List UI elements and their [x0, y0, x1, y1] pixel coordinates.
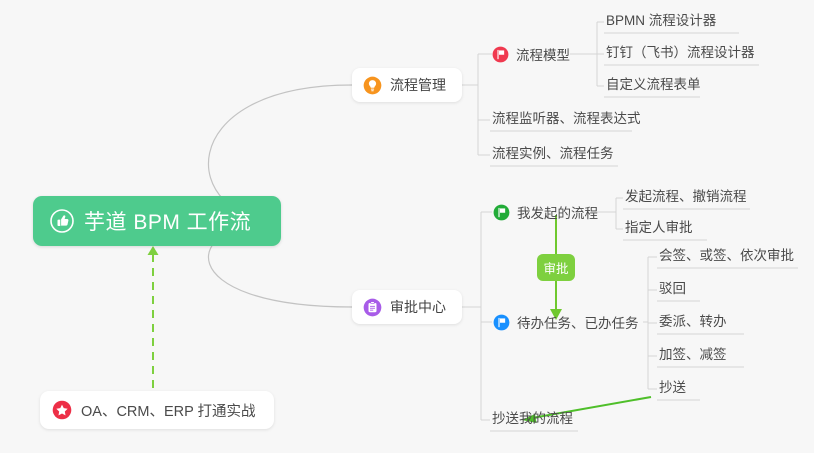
leaf-assignee-approval[interactable]: 指定人审批	[625, 217, 693, 239]
leaf-add-remove-sign[interactable]: 加签、减签	[659, 344, 727, 366]
leaf-cc-my-process[interactable]: 抄送我的流程	[492, 408, 573, 430]
leaf-reject[interactable]: 驳回	[659, 278, 686, 300]
flag-red-icon	[492, 46, 509, 63]
leaf-bpmn-designer[interactable]: BPMN 流程设计器	[606, 10, 716, 32]
card-label-integration: OA、CRM、ERP 打通实战	[81, 400, 256, 421]
thumbs-up-icon	[50, 209, 74, 233]
leaf-custom-form[interactable]: 自定义流程表单	[606, 74, 701, 96]
card-node-integration[interactable]: OA、CRM、ERP 打通实战	[40, 391, 274, 429]
node-label-my-started-process: 我发起的流程	[517, 202, 598, 222]
node-label-todo-done-task: 待办任务、已办任务	[517, 312, 639, 332]
leaf-delegate-transfer[interactable]: 委派、转办	[659, 311, 727, 333]
branch-label-approval-center: 审批中心	[390, 297, 446, 317]
node-process-model[interactable]: 流程模型	[492, 42, 570, 66]
approval-badge[interactable]: 审批	[537, 254, 575, 281]
green-dashed-arrow	[148, 246, 159, 388]
approval-badge-label: 审批	[543, 258, 568, 277]
flag-blue-icon	[493, 314, 510, 331]
mindmap-canvas: 芋道 BPM 工作流 流程管理 审批中心	[0, 0, 814, 453]
leaf-cc[interactable]: 抄送	[659, 377, 686, 399]
branch-node-process-management[interactable]: 流程管理	[352, 68, 462, 102]
lightbulb-icon	[363, 76, 382, 95]
flag-green-icon	[493, 204, 510, 221]
node-my-started-process[interactable]: 我发起的流程	[493, 200, 598, 224]
leaf-countersign[interactable]: 会签、或签、依次审批	[659, 245, 794, 267]
branch-node-approval-center[interactable]: 审批中心	[352, 290, 462, 324]
star-icon	[52, 400, 72, 420]
leaf-process-listener[interactable]: 流程监听器、流程表达式	[492, 108, 641, 130]
leaf-process-instance[interactable]: 流程实例、流程任务	[492, 143, 614, 165]
clipboard-icon	[363, 298, 382, 317]
node-label-process-model: 流程模型	[516, 44, 570, 64]
root-label: 芋道 BPM 工作流	[84, 206, 251, 236]
node-todo-done-task[interactable]: 待办任务、已办任务	[493, 310, 639, 334]
leaf-launch-cancel-process[interactable]: 发起流程、撤销流程	[625, 186, 747, 208]
root-node[interactable]: 芋道 BPM 工作流	[33, 196, 281, 246]
branch-label-process-management: 流程管理	[390, 75, 446, 95]
leaf-dingtalk-designer[interactable]: 钉钉（飞书）流程设计器	[606, 42, 755, 64]
